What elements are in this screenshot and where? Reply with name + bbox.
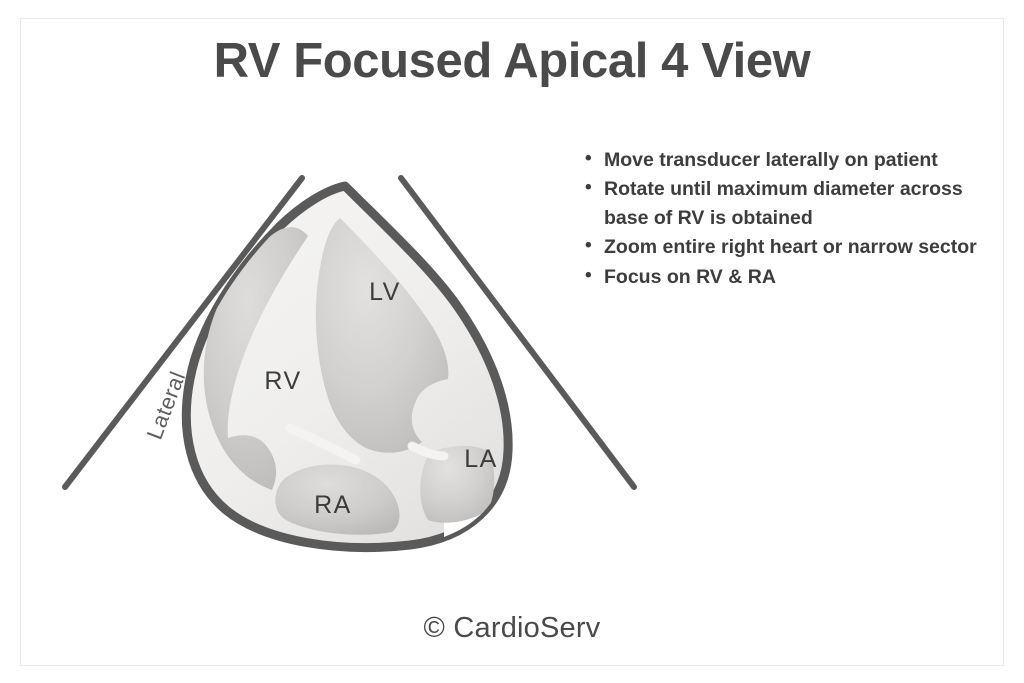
chamber-label-rv: RV: [264, 367, 301, 395]
copyright-credit: © CardioServ: [0, 612, 1024, 645]
chamber-label-la: LA: [464, 445, 498, 473]
list-item: Zoom entire right heart or narrow sector: [602, 233, 990, 261]
heart-diagram: LV RV LA RA Lateral: [40, 160, 660, 580]
chamber-label-ra: RA: [314, 491, 352, 519]
list-item: Move transducer laterally on patient: [602, 146, 990, 174]
chamber-label-lv: LV: [369, 278, 401, 306]
slide-canvas: RV Focused Apical 4 View: [0, 0, 1024, 683]
list-item: Focus on RV & RA: [602, 263, 990, 291]
list-item: Rotate until maximum diameter across bas…: [602, 175, 990, 232]
page-title: RV Focused Apical 4 View: [0, 33, 1024, 89]
instruction-list: Move transducer laterally on patient Rot…: [578, 146, 990, 291]
instruction-panel: Move transducer laterally on patient Rot…: [578, 146, 990, 292]
apical-4-chamber-svg: LV RV LA RA Lateral: [40, 160, 660, 580]
